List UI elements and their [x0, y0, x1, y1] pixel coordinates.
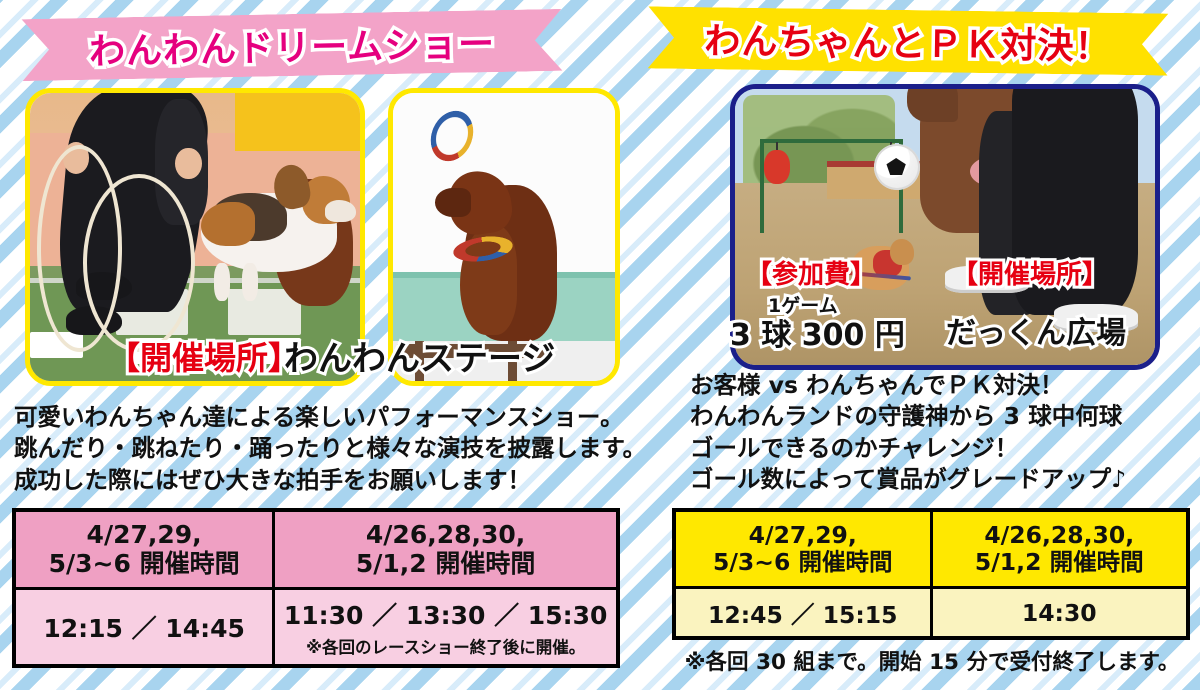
show-col2-times: 11:30 ／ 13:30 ／ 15:30 ※各回のレースショー終了後に開催。	[274, 588, 618, 666]
show-col2-header: 4/26,28,30, 5/1,2 開催時間	[274, 510, 618, 588]
pk-description-line-3: ゴールできるのかチャレンジ！	[690, 433, 1126, 464]
show-venue-label: 【開催場所】	[108, 333, 300, 379]
table-row: 4/27,29, 5/3~6 開催時間 4/26,28,30, 5/1,2 開催…	[674, 510, 1188, 588]
pk-ribbon-banner: わんちゃんとＰＫ対決！	[648, 6, 1169, 75]
pk-title: わんちゃんとＰＫ対決！	[704, 12, 1112, 70]
show-col1-header: 4/27,29, 5/3~6 開催時間	[14, 510, 274, 588]
pk-col1-header-line-1: 4/27,29,	[680, 522, 926, 549]
pk-fee-price: 3 球 300 円	[730, 310, 905, 354]
pk-description-line-4: ゴール数によって賞品がグレードアップ♪	[690, 464, 1126, 495]
show-description-line-2: 跳んだり・跳ねたり・踊ったりと様々な演技を披露します。	[14, 433, 646, 464]
show-col1-header-line-2: 5/3~6 開催時間	[20, 549, 268, 578]
show-schedule-table: 4/27,29, 5/3~6 開催時間 4/26,28,30, 5/1,2 開催…	[12, 508, 620, 668]
show-col2-note: ※各回のレースショー終了後に開催。	[279, 634, 612, 658]
pk-footnote: ※各回 30 組まで。開始 15 分で受付終了します。	[672, 645, 1192, 676]
show-col2-header-line-2: 5/1,2 開催時間	[279, 549, 612, 578]
pk-venue-label: 【開催場所】	[952, 254, 1108, 291]
pk-col1-times: 12:45 ／ 15:15	[674, 588, 931, 638]
table-row: 12:15 ／ 14:45 11:30 ／ 13:30 ／ 15:30 ※各回の…	[14, 588, 618, 666]
pk-col2-header-line-2: 5/1,2 開催時間	[937, 549, 1183, 576]
show-col2-header-line-1: 4/26,28,30,	[279, 520, 612, 549]
table-row: 4/27,29, 5/3~6 開催時間 4/26,28,30, 5/1,2 開催…	[14, 510, 618, 588]
pk-fee-label: 【参加費】	[746, 254, 876, 291]
show-col1-header-line-1: 4/27,29,	[20, 520, 268, 549]
pk-description-line-2: わんわんランドの守護神から 3 球中何球	[690, 401, 1126, 432]
pk-col2-header-line-1: 4/26,28,30,	[937, 522, 1183, 549]
show-col2-times-value: 11:30 ／ 13:30 ／ 15:30	[279, 596, 612, 632]
pk-col2-times: 14:30	[931, 588, 1188, 638]
show-description-line-1: 可愛いわんちゃん達による楽しいパフォーマンスショー。	[14, 402, 646, 433]
pk-col2-header: 4/26,28,30, 5/1,2 開催時間	[931, 510, 1188, 588]
show-description: 可愛いわんちゃん達による楽しいパフォーマンスショー。 跳んだり・跳ねたり・踊った…	[14, 402, 646, 496]
pk-schedule-table: 4/27,29, 5/3~6 開催時間 4/26,28,30, 5/1,2 開催…	[672, 508, 1190, 640]
pk-venue-value: だっくん広場	[946, 308, 1126, 352]
pk-col1-header: 4/27,29, 5/3~6 開催時間	[674, 510, 931, 588]
pk-description: お客様 vs わんちゃんでＰＫ対決！ わんわんランドの守護神から 3 球中何球 …	[690, 370, 1126, 495]
poster-page: わんわんドリームショー	[0, 0, 1200, 690]
pk-description-line-1: お客様 vs わんちゃんでＰＫ対決！	[690, 370, 1126, 401]
show-ribbon-banner: わんわんドリームショー	[21, 9, 562, 81]
show-venue-value: わんわんステージ	[284, 331, 555, 380]
table-row: 12:45 ／ 15:15 14:30	[674, 588, 1188, 638]
show-description-line-3: 成功した際にはぜひ大きな拍手をお願いします！	[14, 465, 646, 496]
pk-col1-header-line-2: 5/3~6 開催時間	[680, 549, 926, 576]
show-col1-times: 12:15 ／ 14:45	[14, 588, 274, 666]
show-title: わんわんドリームショー	[89, 15, 496, 75]
